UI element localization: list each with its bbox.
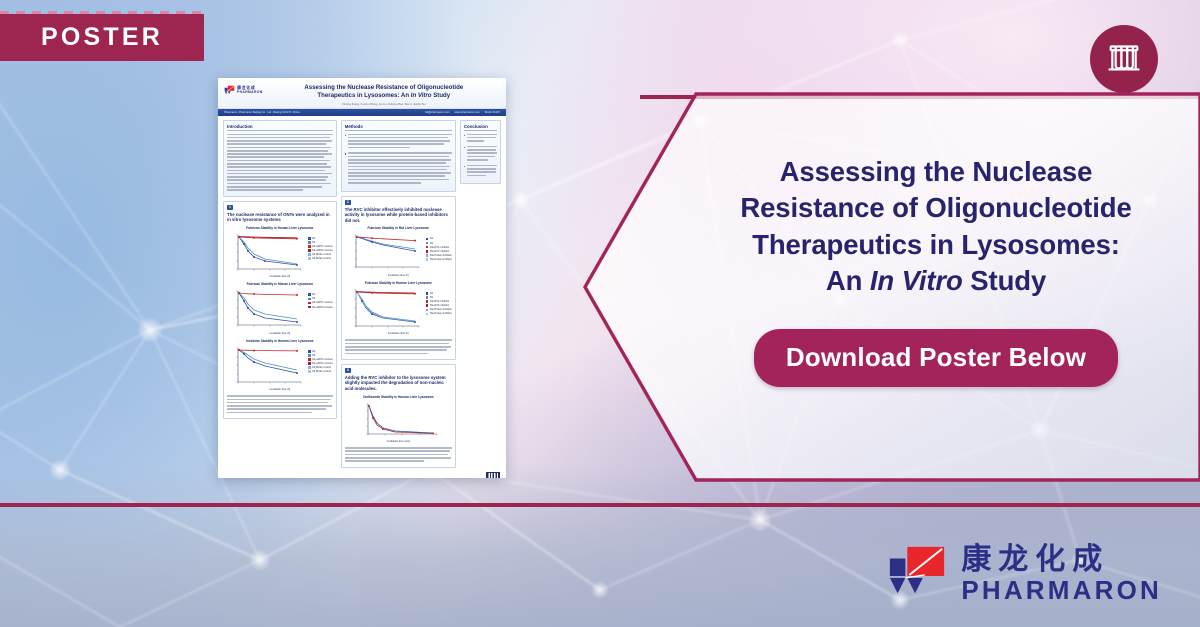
poster-panel-2-summary [345,339,452,354]
chart-6-xlabel: Incubation time (min) [345,440,452,443]
poster-pharmaron-mark-icon [224,85,235,96]
chart-4-legend: AS SS AS+RVC inhibitor SS+RVC inhibitor … [426,231,452,260]
poster-panel-3-heading: Adding the RVC inhibitor to the lysosome… [345,375,452,392]
poster-panel-1-heading: The nuclease resistance of ONTs were ana… [227,212,333,223]
poster-badge-label: POSTER [41,23,163,52]
chart-5-title: Fubrican Stability in Human Liver Lysoso… [345,281,452,285]
page-title-line-4-suffix: Study [963,265,1046,296]
legend-item: SS Buffer control [308,257,333,260]
chart-5-xlabel: Incubation time (h) [345,332,452,335]
chart-4-plot [345,231,423,273]
poster-panel-1-summary [227,395,333,413]
chart-2: Fubrican Stability in Mouse Liver Lysoso… [227,282,333,335]
legend-item: AS [426,237,452,240]
poster-contact-web: www.pharmaron.com [455,111,480,114]
poster-affiliation-bar: Pharmaron, Pharmaron Beijing Co., Ltd., … [218,109,506,116]
chart-6-title: Carfilzomib Stability in Human Liver Lys… [345,395,452,399]
chart-1-plot [227,231,305,275]
chart-1-legend: AS SS AS+siRVC mixture SS+siRVC mixture … [308,231,333,260]
poster-conclusion-heading: Conclusion [464,124,497,131]
chart-3-xlabel: Incubation time (h) [227,388,333,391]
page-title-line-3: Therapeutics in Lysosomes: [701,227,1171,263]
poster-title: Assessing the Nuclease Resistance of Oli… [268,84,500,100]
poster-title-line-1: Assessing the Nuclease Resistance of Oli… [268,84,500,92]
chart-5-legend: AS SS AS+RVC inhibitor SS+RVC inhibitor … [426,286,452,315]
poster-conclusion-bullet [464,146,497,162]
page-title-line-4-italic: In Vitro [870,265,963,296]
legend-item: SS+Protein inhibitor [426,312,452,315]
legend-item: AS [308,293,333,296]
chart-1: Fubrican Stability in Human Liver Lysoso… [227,226,333,279]
poster-panel-2: 2 The RVC inhibitor effectively inhibite… [341,196,456,360]
poster-authors: Xinrong Zhang, Xuemin Zhang, Lei Liu, Fe… [268,103,500,106]
legend-item: SS+siRVC mixture [308,249,333,252]
legend-item: SS+RVC inhibitor [426,250,452,253]
chart-4-row: AS SS AS+RVC inhibitor SS+RVC inhibitor … [345,231,452,273]
legend-item: SS+Protein inhibitor [426,258,452,261]
poster-conclusion-bullet [464,134,497,144]
legend-item: SS Buffer control [308,370,333,373]
chart-4-title: Fubrican Stability in Rat Liver Lysosome [345,226,452,230]
legend-item: AS+siRVC mixture [308,245,333,248]
chart-6-row [345,400,452,440]
poster-panel-3-summary [345,447,452,462]
pharmaron-wordmark: 康龙化成 PHARMARON [961,545,1162,603]
chart-4-xlabel: Incubation time (h) [345,274,452,277]
legend-item: AS [308,350,333,353]
page-title-line-1: Assessing the Nuclease [701,154,1171,190]
legend-item: SS [308,297,333,300]
poster-panel-2-heading: The RVC inhibitor effectively inhibited … [345,207,452,224]
page-title-line-4-prefix: An [826,265,870,296]
chart-5-row: AS SS AS+RVC inhibitor SS+RVC inhibitor … [345,286,452,332]
poster-contact-links: bd@pharmaron.com www.pharmaron.com Booth… [425,111,500,114]
poster-title-line-2-italic: In Vitro [411,92,432,99]
poster-columns: Introduction 1 The nuc [223,120,501,472]
chart-2-xlabel: Incubation time (h) [227,332,333,335]
page-title-line-2: Resistance of Oligonucleotide [701,190,1171,226]
chart-4: Fubrican Stability in Rat Liver Lysosome [345,226,452,277]
poster-footer-actions: Scan and Download Poster [218,472,506,479]
pharmaron-chinese-name: 康龙化成 [961,545,1162,575]
chart-3-legend: AS SS AS+siRVC mixture SS+siRVC mixture … [308,344,333,373]
poster-section-conclusion: Conclusion [460,120,501,184]
legend-item: SS+RVC inhibitor [426,304,452,307]
poster-logo-text: 康龙化成 PHARMARON [237,86,263,94]
legend-item: AS Buffer control [308,253,333,256]
legend-item: SS [426,242,452,245]
poster-methods-bullet [345,134,452,150]
chart-2-row: AS SS AS+siRVC mixture SS+siRVC mixture [227,287,333,331]
bullet-dot-icon [464,166,466,168]
legend-item: SS+siRVC mixture [308,362,333,365]
poster-title-block: Assessing the Nuclease Resistance of Oli… [268,82,500,106]
poster-methods-heading: Methods [345,124,452,131]
poster-column-conclusion: Conclusion [460,120,501,472]
legend-item: SS [426,296,452,299]
pharmaron-mark-icon [886,543,948,605]
poster-column-left: Introduction 1 The nuc [223,120,337,472]
poster-introduction-text [227,134,333,191]
poster-panel-1-number: 1 [227,205,233,210]
legend-item: AS+siRVC mixture [308,301,333,304]
bullet-dot-icon [464,147,466,149]
pharmaron-english-name: PHARMARON [961,577,1162,603]
legend-item: SS [308,354,333,357]
poster-header: 康龙化成 PHARMARON Assessing the Nuclease Re… [218,78,506,109]
bullet-dot-icon [464,135,466,137]
poster-contact-email: bd@pharmaron.com [425,111,450,114]
poster-introduction-heading: Introduction [227,124,333,131]
poster-panel-3: 3 Adding the RVC inhibitor to the lysoso… [341,364,456,468]
chart-3-row: AS SS AS+siRVC mixture SS+siRVC mixture … [227,344,333,388]
bullet-dot-icon [345,153,347,155]
panel-content: Assessing the Nuclease Resistance of Oli… [701,154,1171,387]
legend-item: AS [426,292,452,295]
poster-panel-2-number: 2 [345,200,351,205]
chart-1-xlabel: Incubation time (h) [227,275,333,278]
chart-1-row: AS SS AS+siRVC mixture SS+siRVC mixture … [227,231,333,275]
chart-1-title: Fubrican Stability in Human Liver Lysoso… [227,226,333,230]
chart-3-title: Inclisiran Stability in Human Liver Lyso… [227,339,333,343]
page-title-line-4: An In Vitro Study [701,263,1171,299]
poster-title-line-2: Therapeutics in Lysosomes: An In Vitro S… [268,92,500,100]
legend-item: AS+Protein inhibitor [426,254,452,257]
chart-2-title: Fubrican Stability in Mouse Liver Lysoso… [227,282,333,286]
download-poster-button[interactable]: Download Poster Below [754,329,1118,387]
legend-item: SS+siRVC mixture [308,306,333,309]
divider-middle [0,503,1200,507]
poster-section-methods: Methods [341,120,456,192]
poster-affiliation: Pharmaron, Pharmaron Beijing Co., Ltd., … [224,111,300,114]
legend-item: AS+RVC inhibitor [426,300,452,303]
poster-body: Introduction 1 The nuc [218,116,506,472]
chart-3-plot [227,344,305,388]
chart-6-plot [355,400,441,440]
poster-panel-3-number: 3 [345,368,351,373]
poster-badge: POSTER [0,14,204,61]
title-panel: Assessing the Nuclease Resistance of Oli… [583,92,1200,482]
chart-3: Inclisiran Stability in Human Liver Lyso… [227,339,333,392]
chart-2-plot [227,287,305,331]
poster-methods-bullet [345,152,452,185]
legend-item: SS [308,241,333,244]
chart-5: Fubrican Stability in Human Liver Lysoso… [345,281,452,336]
poster-section-introduction: Introduction [223,120,337,197]
poster-title-line-2-suffix: Study [432,92,451,99]
poster-logo-english: PHARMARON [237,91,263,95]
poster-panel-1: 1 The nuclease resistance of ONTs were a… [223,201,337,419]
poster-title-line-2-prefix: Therapeutics in Lysosomes: An [317,92,410,99]
pharmaron-logo: 康龙化成 PHARMARON [886,543,1162,605]
legend-item: AS+RVC inhibitor [426,246,452,249]
chart-2-legend: AS SS AS+siRVC mixture SS+siRVC mixture [308,287,333,308]
poster-column-right: Methods [341,120,456,472]
legend-item: AS+Protein inhibitor [426,308,452,311]
test-tube-rack-icon [1090,25,1158,93]
poster-logo: 康龙化成 PHARMARON [224,82,263,96]
poster-thumbnail[interactable]: 康龙化成 PHARMARON Assessing the Nuclease Re… [218,78,506,478]
legend-item: AS+siRVC mixture [308,358,333,361]
qr-code-icon [486,472,500,479]
poster-conclusion-bullet [464,165,497,178]
page-title: Assessing the Nuclease Resistance of Oli… [701,154,1171,299]
chart-5-plot [345,286,423,332]
legend-item: AS [308,237,333,240]
poster-booth: Booth #1207 [485,111,500,114]
bullet-dot-icon [345,135,347,137]
legend-item: AS Buffer control [308,366,333,369]
chart-6: Carfilzomib Stability in Human Liver Lys… [345,395,452,444]
